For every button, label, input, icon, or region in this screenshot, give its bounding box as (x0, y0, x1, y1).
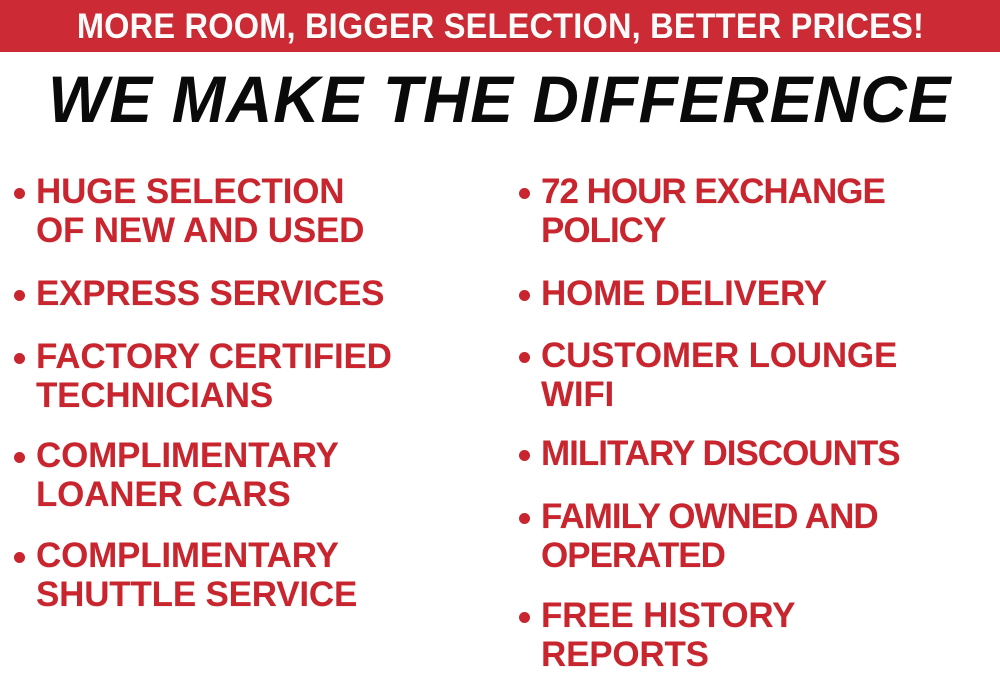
list-item: HUGE SELECTION OF NEW AND USED (14, 173, 364, 250)
list-item: HOME DELIVERY (519, 275, 827, 314)
list-item-label: MILITARY DISCOUNTS (541, 435, 900, 474)
list-item-label: HOME DELIVERY (541, 275, 827, 314)
list-item-label: CUSTOMER LOUNGE WIFI (541, 337, 897, 414)
list-item-label: COMPLIMENTARY LOANER CARS (36, 437, 339, 514)
bullet-dot-icon (519, 188, 530, 199)
list-item: FACTORY CERTIFIED TECHNICIANS (14, 338, 392, 415)
benefits-column-right: 72 HOUR EXCHANGE POLICY HOME DELIVERY CU… (519, 155, 1000, 694)
list-item-label: 72 HOUR EXCHANGE POLICY (541, 173, 885, 250)
promo-banner: MORE ROOM, BIGGER SELECTION, BETTER PRIC… (0, 0, 1000, 52)
benefits-columns: HUGE SELECTION OF NEW AND USED EXPRESS S… (0, 155, 1000, 694)
list-item: COMPLIMENTARY SHUTTLE SERVICE (14, 537, 357, 614)
bullet-dot-icon (519, 513, 530, 524)
bullet-dot-icon (14, 188, 25, 199)
bullet-dot-icon (14, 452, 25, 463)
list-item: 72 HOUR EXCHANGE POLICY (519, 173, 885, 250)
bullet-dot-icon (14, 552, 25, 563)
list-item: CUSTOMER LOUNGE WIFI (519, 337, 897, 414)
list-item-label: HUGE SELECTION OF NEW AND USED (36, 173, 364, 250)
list-item-label: FAMILY OWNED AND OPERATED (541, 498, 878, 575)
bullet-dot-icon (519, 290, 530, 301)
bullet-dot-icon (14, 290, 25, 301)
bullet-dot-icon (519, 612, 530, 623)
list-item-label: FACTORY CERTIFIED TECHNICIANS (36, 338, 392, 415)
headline: WE MAKE THE DIFFERENCE (0, 60, 1000, 138)
bullet-dot-icon (14, 353, 25, 364)
list-item-label: COMPLIMENTARY SHUTTLE SERVICE (36, 537, 357, 614)
bullet-dot-icon (519, 450, 530, 461)
promo-banner-text: MORE ROOM, BIGGER SELECTION, BETTER PRIC… (76, 9, 923, 44)
benefits-column-left: HUGE SELECTION OF NEW AND USED EXPRESS S… (14, 155, 504, 694)
list-item: MILITARY DISCOUNTS (519, 435, 900, 474)
list-item-label: FREE HISTORY REPORTS (541, 597, 795, 674)
list-item: FREE HISTORY REPORTS (519, 597, 795, 674)
list-item: EXPRESS SERVICES (14, 275, 384, 314)
list-item: FAMILY OWNED AND OPERATED (519, 498, 878, 575)
headline-text: WE MAKE THE DIFFERENCE (48, 66, 951, 132)
list-item: COMPLIMENTARY LOANER CARS (14, 437, 339, 514)
list-item-label: EXPRESS SERVICES (36, 275, 384, 314)
bullet-dot-icon (519, 352, 530, 363)
